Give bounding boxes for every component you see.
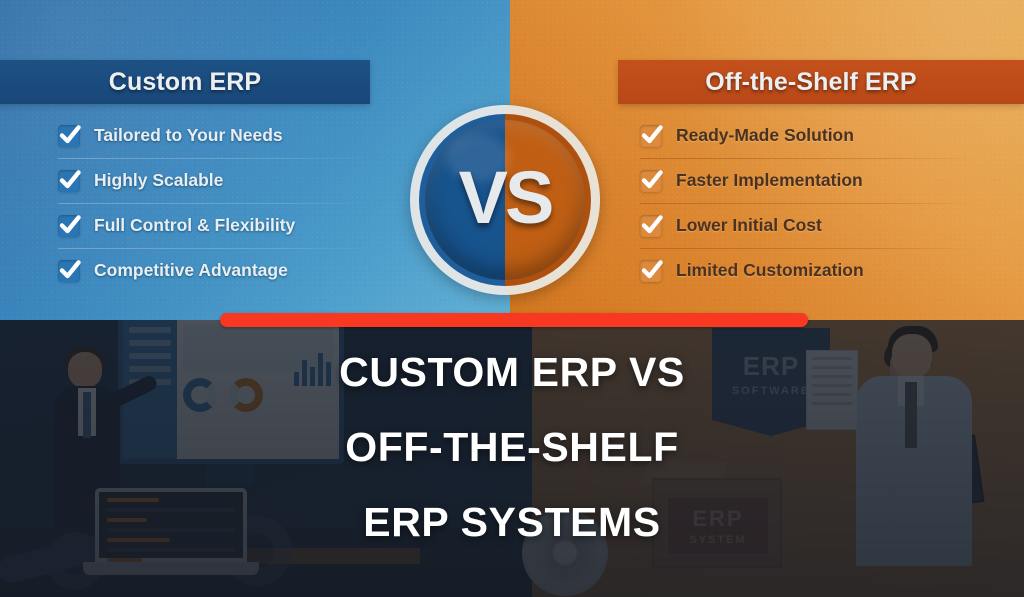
feature-item: Lower Initial Cost bbox=[640, 203, 980, 248]
feature-item: Faster Implementation bbox=[640, 158, 980, 203]
feature-item: Full Control & Flexibility bbox=[58, 203, 368, 248]
feature-label: Competitive Advantage bbox=[94, 260, 288, 281]
erp-comparison-banner: Off-the-Shelf ERP Ready-Made Solution Fa… bbox=[0, 0, 1024, 597]
feature-item: Highly Scalable bbox=[58, 158, 368, 203]
hero-title-line-3: ERP SYSTEMS bbox=[0, 502, 1024, 543]
check-icon bbox=[58, 170, 80, 192]
feature-label: Limited Customization bbox=[676, 260, 864, 281]
feature-label: Full Control & Flexibility bbox=[94, 215, 295, 236]
hero-title: CUSTOM ERP VS OFF-THE-SHELF ERP SYSTEMS bbox=[0, 352, 1024, 543]
off-the-shelf-erp-heading-ribbon: Off-the-Shelf ERP bbox=[618, 60, 1024, 104]
check-icon bbox=[640, 170, 662, 192]
custom-erp-heading-text: Custom ERP bbox=[109, 68, 261, 97]
check-icon bbox=[58, 260, 80, 282]
feature-item: Limited Customization bbox=[640, 248, 980, 293]
feature-label: Ready-Made Solution bbox=[676, 125, 854, 146]
versus-badge: VS bbox=[410, 105, 600, 295]
feature-item: Tailored to Your Needs bbox=[58, 113, 368, 158]
hero-title-line-1: CUSTOM ERP VS bbox=[0, 352, 1024, 393]
feature-label: Lower Initial Cost bbox=[676, 215, 822, 236]
check-icon bbox=[640, 215, 662, 237]
check-icon bbox=[640, 260, 662, 282]
custom-erp-heading-ribbon: Custom ERP bbox=[0, 60, 370, 104]
check-icon bbox=[58, 125, 80, 147]
check-icon bbox=[58, 215, 80, 237]
off-the-shelf-erp-feature-list: Ready-Made Solution Faster Implementatio… bbox=[640, 113, 980, 293]
feature-item: Competitive Advantage bbox=[58, 248, 368, 293]
custom-erp-feature-list: Tailored to Your Needs Highly Scalable F… bbox=[58, 113, 368, 293]
red-accent-bar bbox=[220, 313, 808, 327]
feature-label: Tailored to Your Needs bbox=[94, 125, 283, 146]
versus-badge-label: VS bbox=[459, 161, 552, 235]
versus-badge-face: VS bbox=[425, 120, 585, 280]
check-icon bbox=[640, 125, 662, 147]
feature-label: Faster Implementation bbox=[676, 170, 863, 191]
off-the-shelf-erp-heading-text: Off-the-Shelf ERP bbox=[705, 68, 916, 97]
feature-label: Highly Scalable bbox=[94, 170, 223, 191]
hero-title-line-2: OFF-THE-SHELF bbox=[0, 427, 1024, 468]
feature-item: Ready-Made Solution bbox=[640, 113, 980, 158]
